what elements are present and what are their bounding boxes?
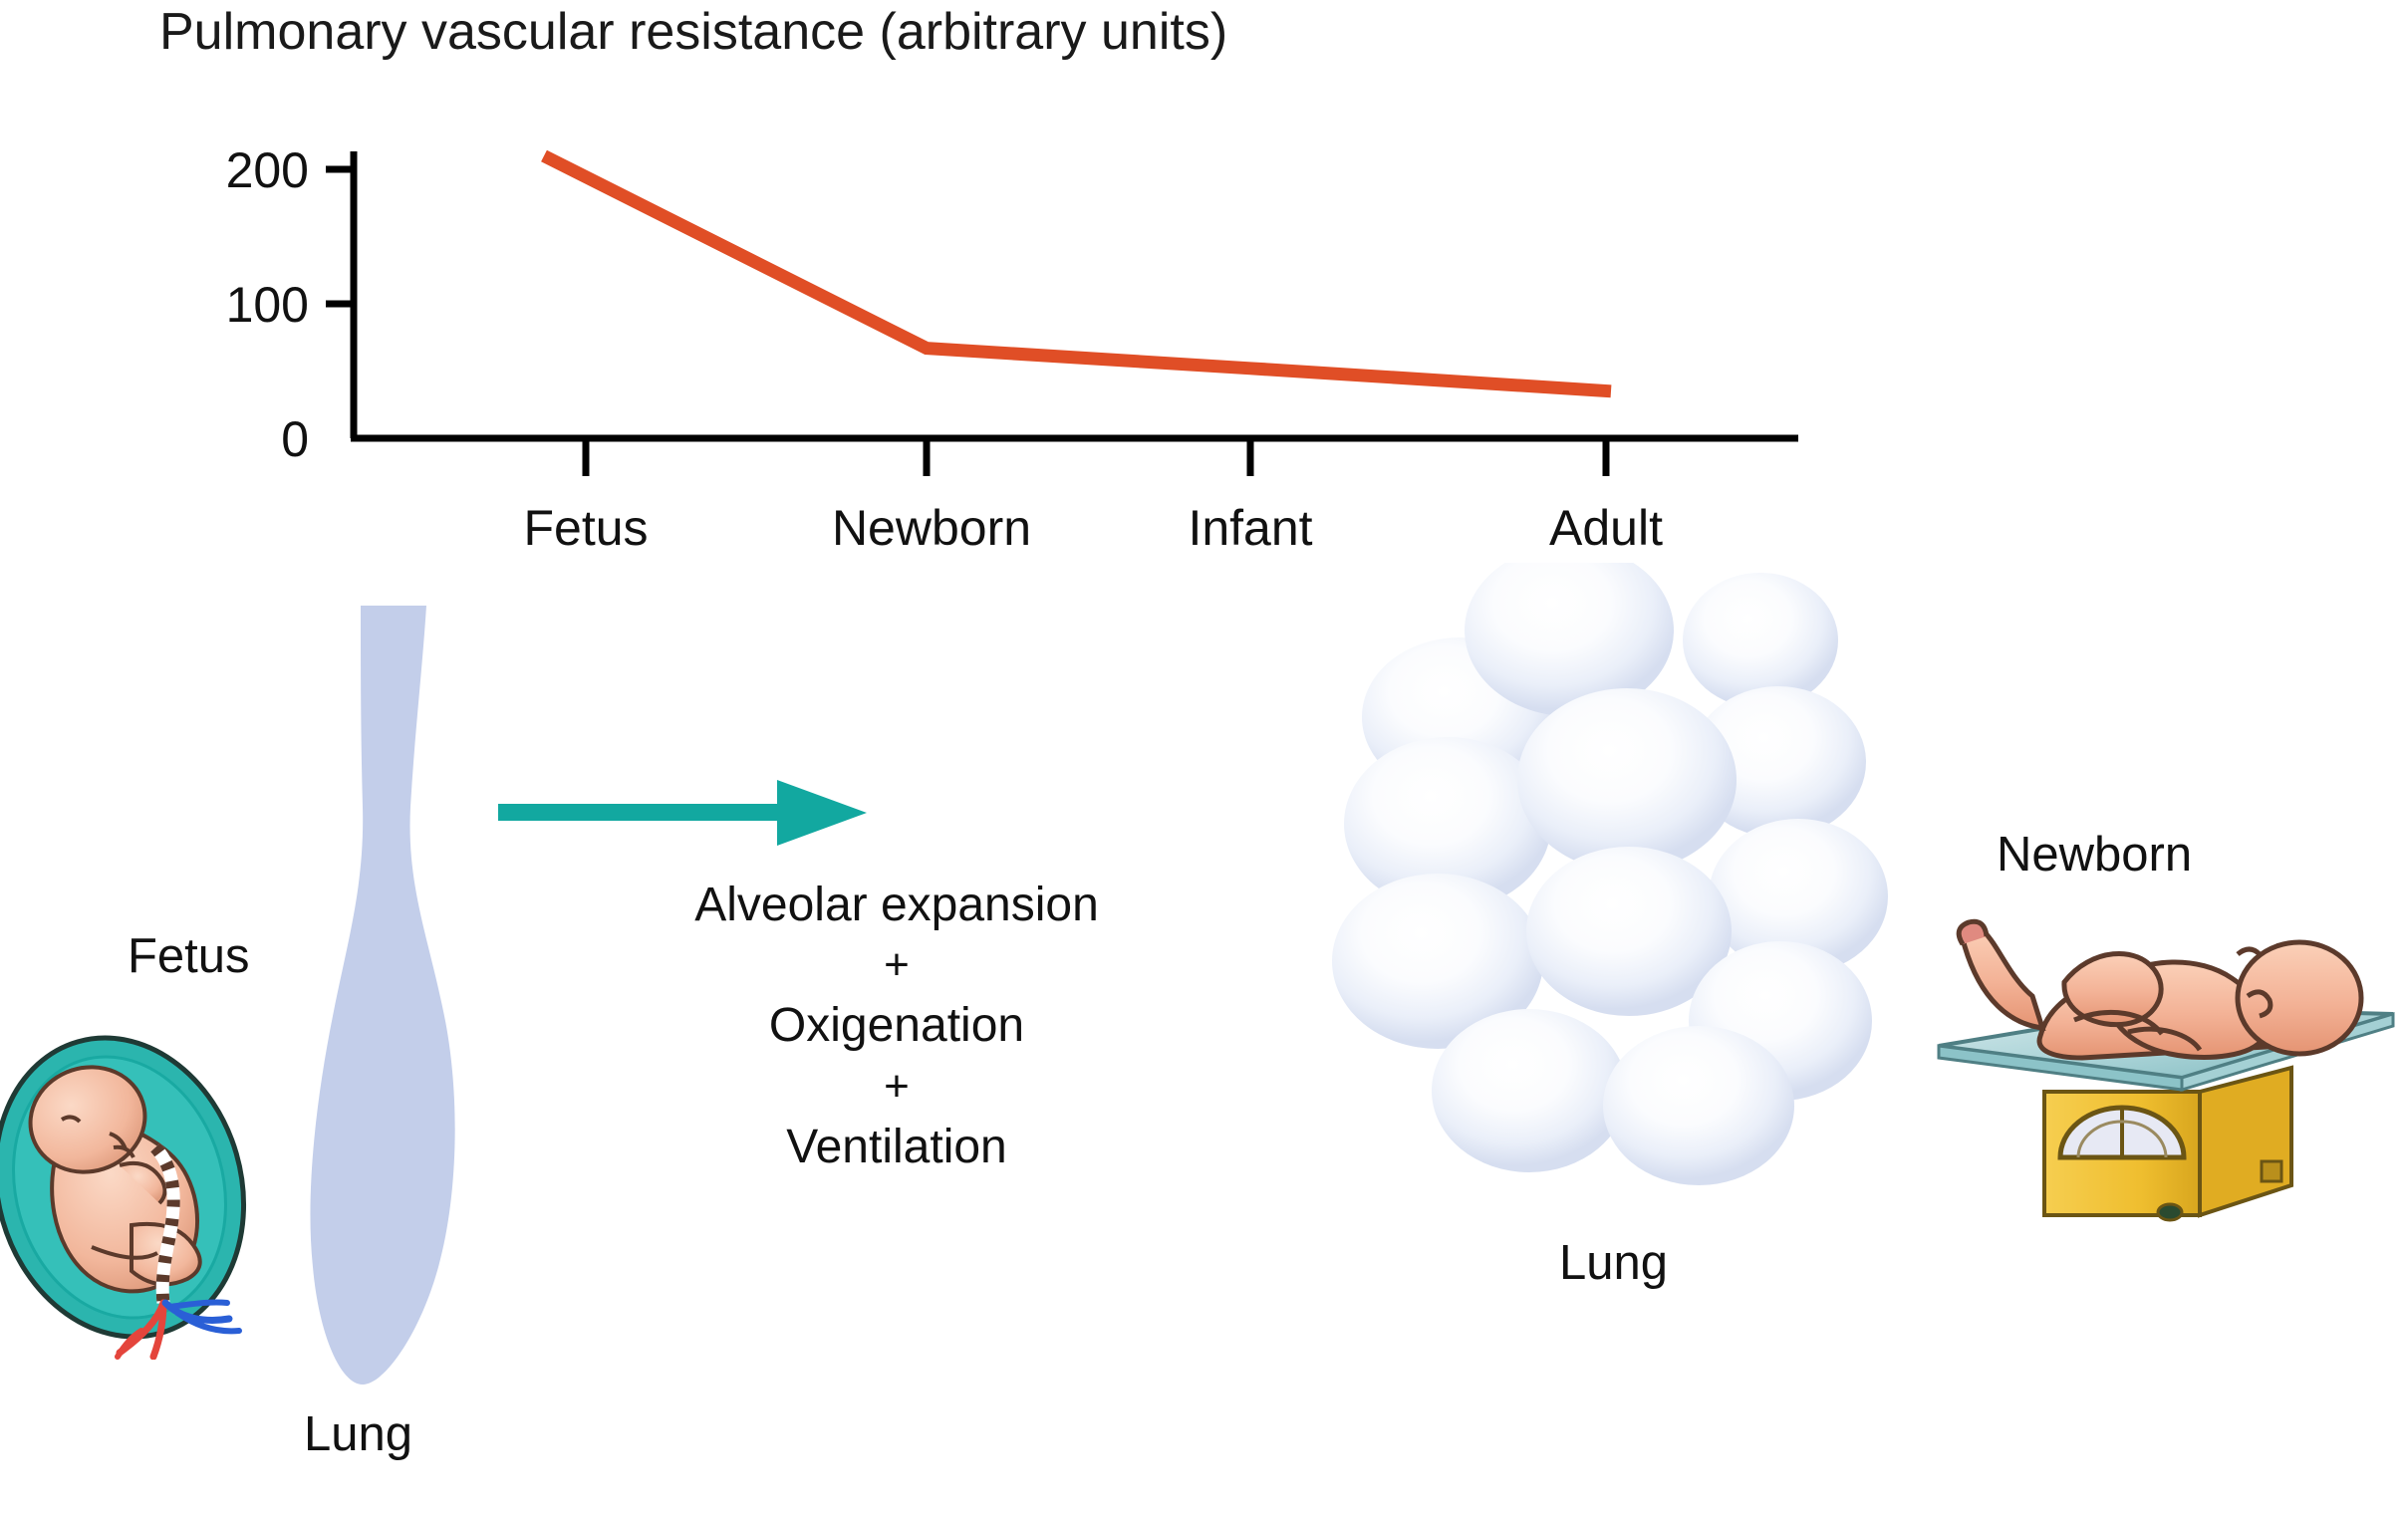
fetus-illustration [0,1016,291,1360]
expanded-alveoli-cluster [1330,563,1908,1230]
newborn-lung-label: Lung [1559,1235,1668,1291]
fetal-lung-label: Lung [304,1406,412,1462]
process-line-2: Oxigenation [658,994,1136,1057]
figure-root: Pulmonary vascular resistance (arbitrary… [0,0,2408,1514]
x-label-fetus: Fetus [523,500,648,556]
process-arrow-icon [498,772,877,862]
y-tick-label-100: 100 [226,277,309,333]
process-plus-1: + [658,936,1136,994]
x-label-newborn: Newborn [832,500,1031,556]
fetus-label: Fetus [128,928,250,984]
chart-title: Pulmonary vascular resistance (arbitrary… [159,2,1227,62]
process-plus-2: + [658,1058,1136,1116]
process-description: Alveolar expansion + Oxigenation + Venti… [658,874,1136,1178]
process-line-3: Ventilation [658,1116,1136,1178]
x-label-adult: Adult [1549,500,1663,556]
process-line-1: Alveolar expansion [658,874,1136,936]
y-tick-label-0: 0 [281,411,309,467]
collapsed-fetal-lung-shape [299,598,498,1404]
newborn-on-scale-illustration [1933,886,2401,1245]
newborn-label: Newborn [1997,827,2192,883]
resistance-series-line [544,156,1611,391]
x-label-infant: Infant [1188,500,1312,556]
pulmonary-resistance-line-chart: 200 100 0 Fetus Newborn Infant Adult [0,60,1843,558]
y-tick-label-200: 200 [226,142,309,198]
